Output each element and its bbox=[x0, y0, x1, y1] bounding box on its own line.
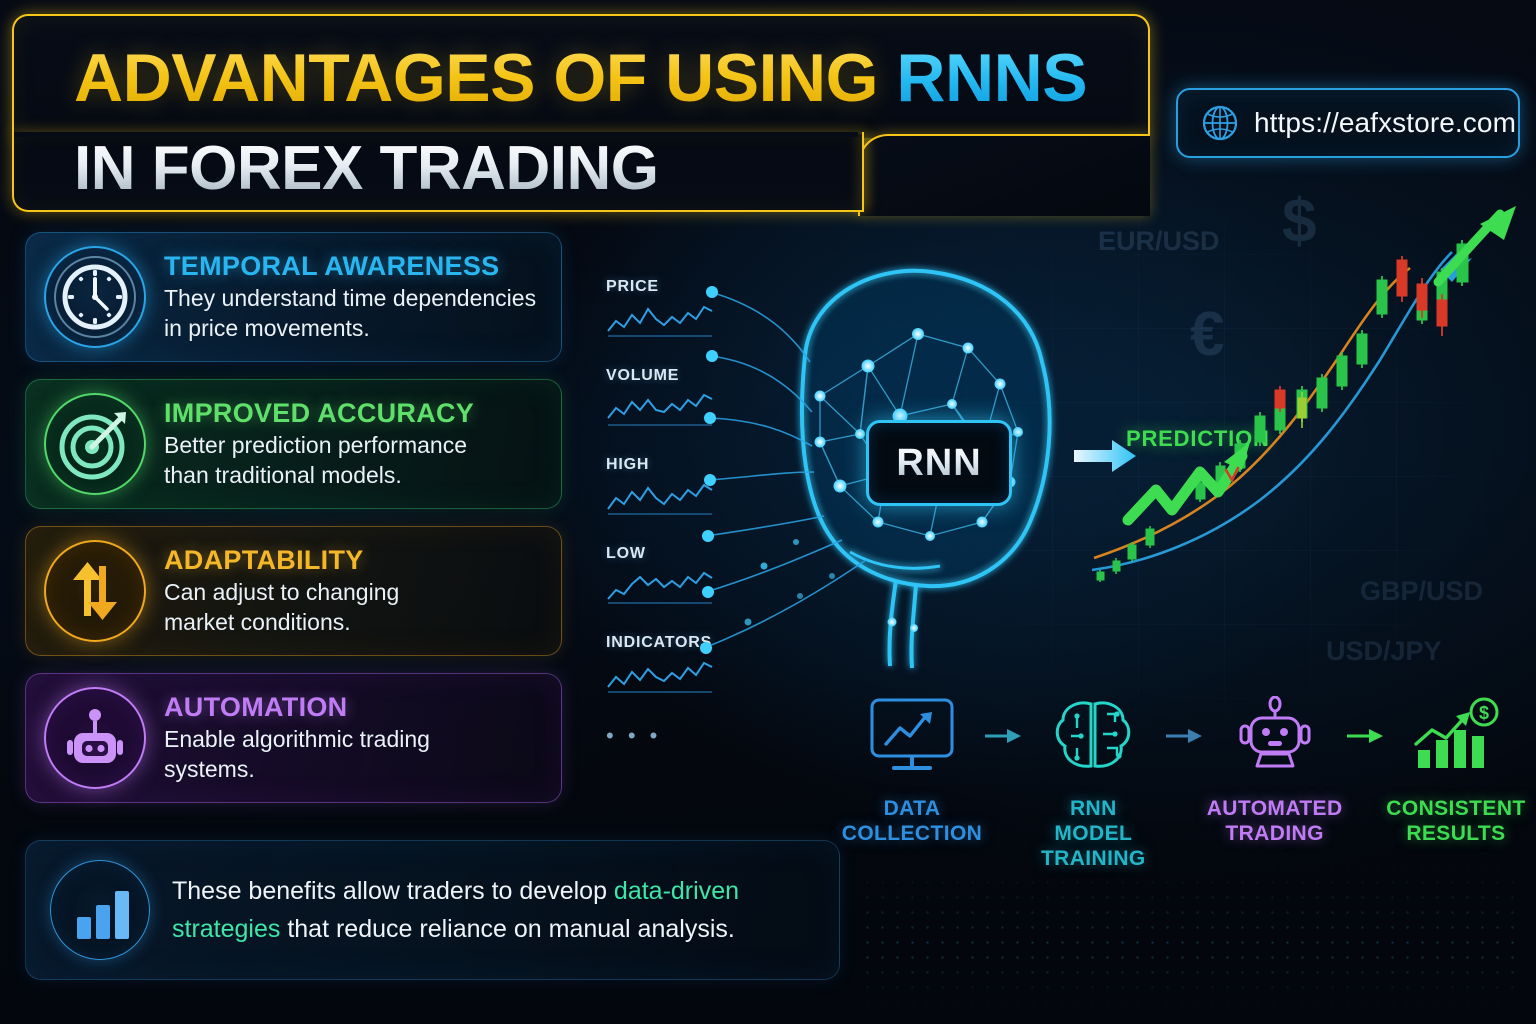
dot-matrix-background bbox=[860, 860, 1520, 1010]
input-more-ellipsis: • • • bbox=[606, 723, 726, 749]
benefit-body-line1: Can adjust to changing bbox=[164, 577, 399, 607]
watermark-eurusd: EUR/USD bbox=[1098, 226, 1220, 256]
up-down-arrows-icon bbox=[44, 540, 146, 642]
robot-icon bbox=[44, 687, 146, 789]
benefit-body-line1: Enable algorithmic trading bbox=[164, 724, 430, 754]
pipeline-step-data-collection[interactable]: DATA COLLECTION bbox=[848, 690, 976, 846]
step-label-line1: RNN MODEL bbox=[1029, 796, 1157, 846]
benefit-body-line1: They understand time dependencies bbox=[164, 283, 536, 313]
pipeline-step-rnn-model-training[interactable]: RNN MODEL TRAINING bbox=[1029, 690, 1157, 871]
benefit-card-text: AUTOMATION Enable algorithmic trading sy… bbox=[164, 692, 430, 784]
forex-candlestick-chart: EUR/USD GBP/USD USD/JPY $ € bbox=[1080, 190, 1536, 670]
step-label-line2: COLLECTION bbox=[842, 821, 983, 846]
candlestick-series bbox=[1097, 240, 1468, 582]
benefit-card-improved-accuracy[interactable]: IMPROVED ACCURACY Better prediction perf… bbox=[25, 379, 562, 509]
benefit-card-automation[interactable]: AUTOMATION Enable algorithmic trading sy… bbox=[25, 673, 562, 803]
pipeline-step-label: CONSISTENT RESULTS bbox=[1386, 796, 1525, 846]
robot-icon bbox=[1229, 690, 1321, 782]
benefit-body-line2: in price movements. bbox=[164, 313, 536, 343]
sparkline-icon bbox=[606, 568, 714, 606]
sparkline-icon bbox=[606, 657, 714, 695]
step-label-line2: TRADING bbox=[1207, 821, 1343, 846]
fast-moving-average-line bbox=[1094, 268, 1410, 558]
summary-text-before: These benefits allow traders to develop bbox=[172, 877, 614, 905]
title-gold-text: ADVANTAGES OF USING bbox=[74, 40, 896, 116]
sparkline-icon bbox=[606, 479, 714, 517]
main-uptrend-arrow bbox=[1438, 206, 1516, 282]
summary-card: These benefits allow traders to develop … bbox=[25, 840, 840, 980]
prediction-zigzag-arrow bbox=[1128, 442, 1250, 520]
header-banner: ADVANTAGES OF USING RNNS IN FOREX TRADIN… bbox=[12, 14, 1146, 210]
url-text: https://eafxstore.com bbox=[1254, 107, 1516, 139]
benefit-card-temporal-awareness[interactable]: TEMPORAL AWARENESS They understand time … bbox=[25, 232, 562, 362]
process-pipeline: DATA COLLECTION bbox=[848, 690, 1520, 870]
rnn-core-label: RNN bbox=[866, 420, 1012, 506]
page-title-line2: IN FOREX TRADING bbox=[74, 138, 658, 200]
watermark-dollar-symbol: $ bbox=[1282, 190, 1316, 256]
target-icon bbox=[44, 393, 146, 495]
infographic-canvas: ADVANTAGES OF USING RNNS IN FOREX TRADIN… bbox=[0, 0, 1536, 1024]
benefit-title: IMPROVED ACCURACY bbox=[164, 398, 474, 428]
step-label-line2: TRAINING bbox=[1029, 846, 1157, 871]
pipeline-step-automated-trading[interactable]: AUTOMATED TRADING bbox=[1211, 690, 1339, 846]
svg-text:$: $ bbox=[1479, 703, 1489, 723]
arrow-right-icon bbox=[1162, 690, 1206, 782]
benefit-title: TEMPORAL AWARENESS bbox=[164, 251, 536, 281]
globe-icon bbox=[1200, 103, 1240, 143]
clock-icon bbox=[44, 246, 146, 348]
sparkline-icon bbox=[606, 301, 714, 339]
summary-text-after: that reduce reliance on manual analysis. bbox=[280, 915, 734, 943]
slow-moving-average-line bbox=[1092, 252, 1452, 570]
arrow-right-icon bbox=[981, 690, 1025, 782]
sparkline-icon bbox=[606, 390, 714, 428]
pipeline-step-label: AUTOMATED TRADING bbox=[1207, 796, 1343, 846]
step-label-line1: DATA bbox=[842, 796, 983, 821]
step-label-line2: RESULTS bbox=[1386, 821, 1525, 846]
benefit-body-line2: systems. bbox=[164, 754, 430, 784]
monitor-chart-icon bbox=[866, 690, 958, 782]
pipeline-step-label: DATA COLLECTION bbox=[842, 796, 983, 846]
benefit-title: AUTOMATION bbox=[164, 692, 430, 722]
benefit-body-line2: market conditions. bbox=[164, 607, 399, 637]
benefit-card-adaptability[interactable]: ADAPTABILITY Can adjust to changing mark… bbox=[25, 526, 562, 656]
benefit-card-text: IMPROVED ACCURACY Better prediction perf… bbox=[164, 398, 474, 490]
title-rnns-text: RNNS bbox=[896, 40, 1087, 116]
step-label-line1: AUTOMATED bbox=[1207, 796, 1343, 821]
benefit-title: ADAPTABILITY bbox=[164, 545, 399, 575]
watermark-usdjpy: USD/JPY bbox=[1326, 636, 1442, 666]
benefit-card-text: ADAPTABILITY Can adjust to changing mark… bbox=[164, 545, 399, 637]
page-title-line1: ADVANTAGES OF USING RNNS bbox=[74, 48, 1087, 108]
pipeline-step-consistent-results[interactable]: $ CONSISTENT RESULTS bbox=[1392, 690, 1520, 846]
bar-chart-icon bbox=[50, 860, 150, 960]
benefit-body-line2: than traditional models. bbox=[164, 460, 474, 490]
growth-bars-dollar-icon: $ bbox=[1406, 690, 1506, 782]
pipeline-step-label: RNN MODEL TRAINING bbox=[1029, 796, 1157, 871]
brain-circuit-icon bbox=[1047, 690, 1139, 782]
watermark-euro-symbol: € bbox=[1190, 300, 1224, 369]
benefit-card-text: TEMPORAL AWARENESS They understand time … bbox=[164, 251, 536, 343]
arrow-right-icon bbox=[1343, 690, 1387, 782]
website-url-badge[interactable]: https://eafxstore.com bbox=[1176, 88, 1520, 158]
benefit-body-line1: Better prediction performance bbox=[164, 430, 474, 460]
watermark-gbpusd: GBP/USD bbox=[1360, 576, 1483, 606]
step-label-line1: CONSISTENT bbox=[1386, 796, 1525, 821]
summary-text: These benefits allow traders to develop … bbox=[172, 872, 815, 948]
rnn-text: RNN bbox=[896, 442, 981, 485]
